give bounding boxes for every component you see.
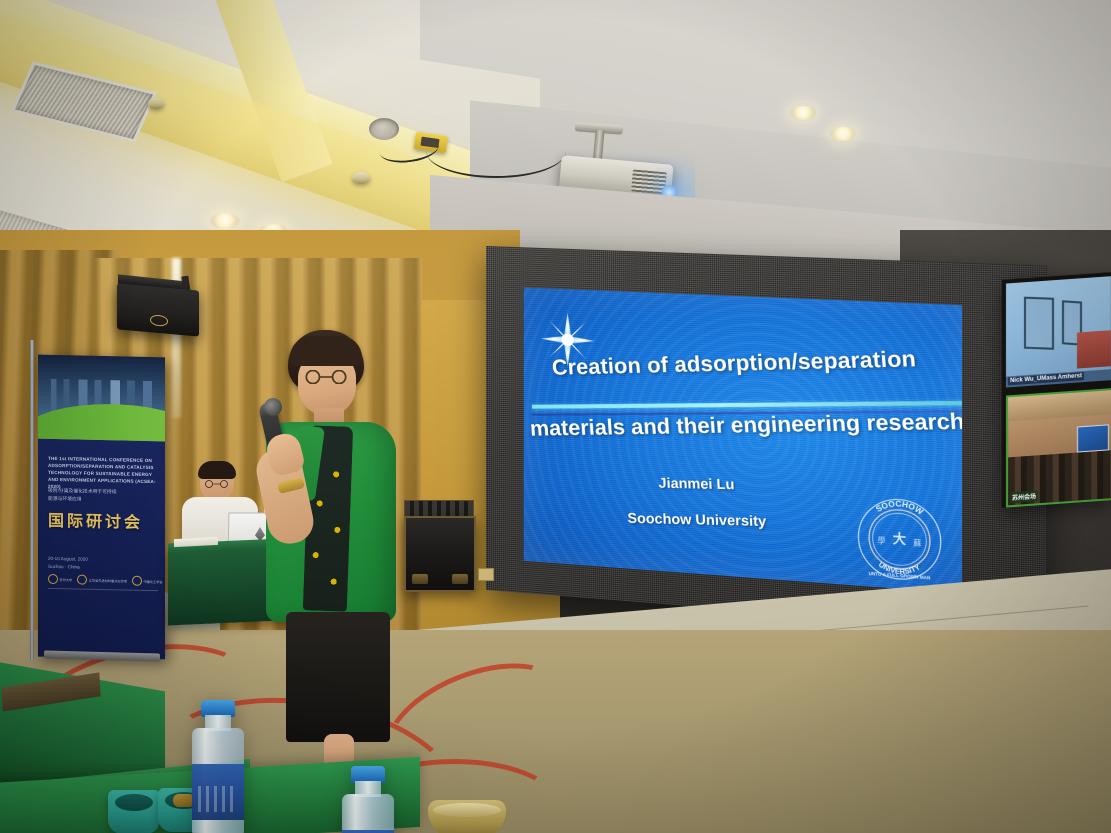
banner-divider xyxy=(48,588,158,591)
speaker-logo-icon xyxy=(150,314,168,327)
video-tile-venue[interactable]: 苏州会场 xyxy=(1006,388,1111,508)
presentation-slide: Creation of adsorption/separation materi… xyxy=(524,288,962,594)
downlight xyxy=(210,213,240,229)
video-tile-label: 苏州会场 xyxy=(1010,490,1038,503)
sponsor-logo-1: 苏州大学 xyxy=(48,574,72,585)
smoke-detector-icon xyxy=(352,172,370,184)
teal-cup[interactable] xyxy=(108,790,160,833)
svg-text:蘇: 蘇 xyxy=(913,538,922,548)
sponsor-seal-icon xyxy=(77,574,87,584)
banner-skyline-photo xyxy=(38,355,165,442)
video-tile-ceiling xyxy=(1008,390,1111,421)
audio-flight-case xyxy=(404,516,476,592)
video-tile-wall xyxy=(1077,330,1111,368)
sponsor-seal-icon xyxy=(48,574,58,584)
sponsor-name: 苏州大学 xyxy=(60,577,73,582)
ceiling-speaker-icon xyxy=(369,118,399,140)
video-tile-screen xyxy=(1077,424,1109,452)
downlight xyxy=(830,127,856,141)
svg-text:學: 學 xyxy=(878,536,886,546)
glasses-icon xyxy=(298,370,354,384)
banner-location: Suzhou · China xyxy=(48,563,158,573)
banner-sponsor-logos: 苏州大学 江苏省先进材料重点实验室 中国化工学会 xyxy=(48,573,160,587)
wall-outlet xyxy=(478,568,494,581)
video-tile-shape xyxy=(1024,297,1054,350)
sponsor-logo-3: 中国化工学会 xyxy=(132,576,163,587)
presenter-fringe xyxy=(290,336,362,366)
slide-title-line1: Creation of adsorption/separation xyxy=(551,345,962,381)
banner-title: THE 1st INTERNATIONAL CONFERENCE ON ADSO… xyxy=(48,455,158,493)
bowl-rim xyxy=(433,803,501,817)
bottle-body xyxy=(342,794,394,833)
sponsor-name: 中国化工学会 xyxy=(144,578,163,583)
sponsor-logo-2: 江苏省先进材料重点实验室 xyxy=(77,574,127,585)
sponsor-name: 江苏省先进材料重点实验室 xyxy=(89,577,127,583)
banner-subtitle-cn-2: 能源与环境应用 xyxy=(48,496,158,506)
banner-headline-cn: 国际研讨会 xyxy=(48,507,158,533)
slide-affiliation: Soochow University xyxy=(524,507,877,532)
svg-text:大: 大 xyxy=(893,530,907,547)
led-video-wall: Creation of adsorption/separation materi… xyxy=(486,246,1047,634)
conference-room-photo: Creation of adsorption/separation materi… xyxy=(0,0,1111,833)
smoke-detector-icon xyxy=(148,98,164,109)
video-tile-remote[interactable]: Nick Wu_UMass Amherst xyxy=(1006,276,1111,387)
bottle-label xyxy=(192,764,244,820)
technician-hair xyxy=(198,461,236,479)
soochow-university-seal-icon: SOOCHOW UNIVERSITY 大 學 蘇 UNTO A FULL GRO… xyxy=(855,493,944,585)
cup-opening xyxy=(115,794,153,811)
slide-divider xyxy=(532,401,962,409)
banner-pole xyxy=(30,340,34,660)
presenter-skirt xyxy=(286,612,390,742)
brass-bowl[interactable] xyxy=(428,800,506,833)
video-conference-panel[interactable]: Nick Wu_UMass Amherst 苏州会场 xyxy=(1002,272,1111,508)
slide-author: Jianmei Lu xyxy=(524,472,877,495)
presenter xyxy=(246,330,406,800)
sponsor-seal-icon xyxy=(132,576,142,586)
wall-speaker xyxy=(117,283,199,336)
downlight xyxy=(790,106,816,120)
glasses-icon xyxy=(202,480,232,488)
rollup-banner: THE 1st INTERNATIONAL CONFERENCE ON ADSO… xyxy=(38,355,165,660)
